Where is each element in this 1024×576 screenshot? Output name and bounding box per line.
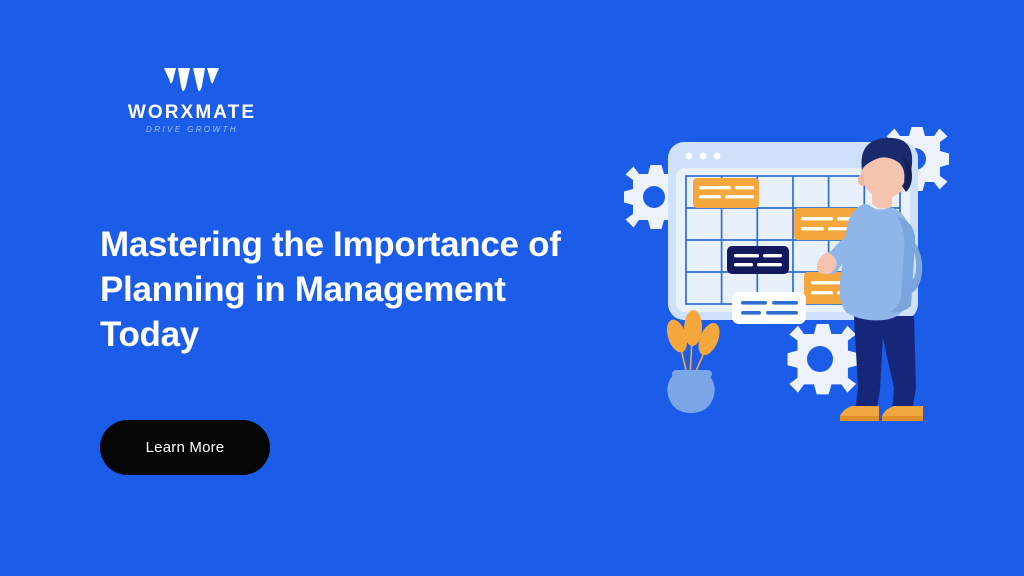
potted-plant bbox=[663, 310, 724, 413]
plant-vase bbox=[667, 374, 714, 413]
learn-more-button[interactable]: Learn More bbox=[100, 420, 270, 475]
gear-bottom-icon bbox=[788, 324, 858, 394]
plant-vase-rim bbox=[672, 370, 712, 378]
task-card-navy bbox=[727, 246, 789, 274]
person-shoe-front bbox=[840, 406, 879, 421]
planning-board-illustration bbox=[596, 120, 996, 440]
brand-logo[interactable]: WORXMATE DRIVE GROWTH bbox=[97, 66, 287, 136]
board-window-dots-icon bbox=[686, 153, 721, 160]
banner-root: WORXMATE DRIVE GROWTH Mastering the Impo… bbox=[0, 0, 1024, 576]
person-shoe-back bbox=[882, 406, 923, 421]
brand-wordmark: WORXMATE bbox=[128, 103, 256, 122]
person-leg-back bbox=[878, 316, 916, 412]
task-card-orange-1 bbox=[693, 178, 759, 208]
task-card-white bbox=[732, 292, 806, 324]
worxmate-w-mark-icon bbox=[162, 66, 222, 100]
brand-tagline: DRIVE GROWTH bbox=[146, 126, 238, 134]
person-leg-front bbox=[854, 316, 884, 412]
page-title: Mastering the Importance of Planning in … bbox=[100, 223, 600, 357]
